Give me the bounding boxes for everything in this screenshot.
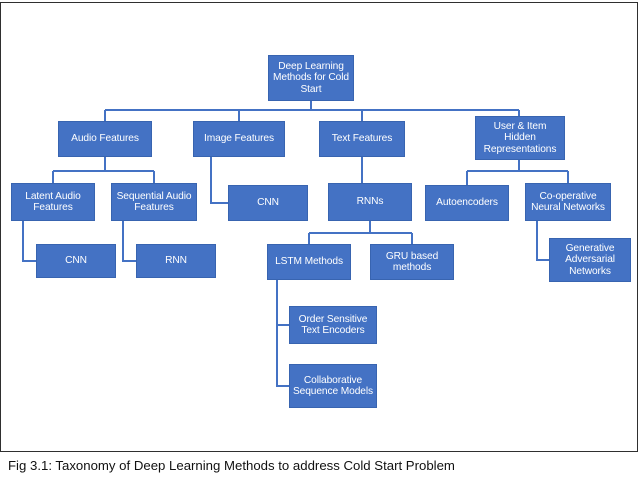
node-user-item-hidden-representations[interactable]: User & Item Hidden Representations xyxy=(475,116,565,160)
node-label: Co-operative Neural Networks xyxy=(528,191,608,214)
node-label: LSTM Methods xyxy=(270,256,348,267)
node-order-sensitive-text-encoders[interactable]: Order Sensitive Text Encoders xyxy=(289,306,377,344)
node-label: Text Features xyxy=(322,133,402,144)
node-label: CNN xyxy=(39,255,113,266)
node-label: Deep Learning Methods for Cold Start xyxy=(271,61,351,95)
node-autoencoders[interactable]: Autoencoders xyxy=(425,185,509,221)
node-gru-based-methods[interactable]: GRU based methods xyxy=(370,244,454,280)
node-audio-cnn[interactable]: CNN xyxy=(36,244,116,278)
node-label: Latent Audio Features xyxy=(14,191,92,214)
node-label: GRU based methods xyxy=(373,251,451,274)
node-label: Audio Features xyxy=(61,133,149,144)
figure-caption: Fig 3.1: Taxonomy of Deep Learning Metho… xyxy=(8,458,632,473)
node-text-features[interactable]: Text Features xyxy=(319,121,405,157)
node-label: Sequential Audio Features xyxy=(114,191,194,214)
node-image-cnn[interactable]: CNN xyxy=(228,185,308,221)
node-audio-features[interactable]: Audio Features xyxy=(58,121,152,157)
edge-latent-to-cnn xyxy=(23,221,36,261)
node-collaborative-sequence-models[interactable]: Collaborative Sequence Models xyxy=(289,364,377,408)
node-deep-learning-methods-for-cold-start[interactable]: Deep Learning Methods for Cold Start xyxy=(268,55,354,101)
edge-image-to-cnn xyxy=(211,157,228,203)
node-label: User & Item Hidden Representations xyxy=(478,121,562,155)
node-label: Order Sensitive Text Encoders xyxy=(292,314,374,337)
diagram-canvas: Deep Learning Methods for Cold Start Aud… xyxy=(1,3,639,453)
node-rnns[interactable]: RNNs xyxy=(328,183,412,221)
node-co-operative-neural-networks[interactable]: Co-operative Neural Networks xyxy=(525,183,611,221)
node-label: Generative Adversarial Networks xyxy=(552,243,628,277)
node-label: RNNs xyxy=(331,196,409,207)
node-label: RNN xyxy=(139,255,213,266)
node-generative-adversarial-networks[interactable]: Generative Adversarial Networks xyxy=(549,238,631,282)
diagram-frame: Deep Learning Methods for Cold Start Aud… xyxy=(0,2,638,452)
node-label: Collaborative Sequence Models xyxy=(292,375,374,398)
node-sequential-audio-features[interactable]: Sequential Audio Features xyxy=(111,183,197,221)
node-lstm-methods[interactable]: LSTM Methods xyxy=(267,244,351,280)
node-image-features[interactable]: Image Features xyxy=(193,121,285,157)
node-audio-rnn[interactable]: RNN xyxy=(136,244,216,278)
node-label: CNN xyxy=(231,197,305,208)
node-label: Autoencoders xyxy=(428,197,506,208)
node-latent-audio-features[interactable]: Latent Audio Features xyxy=(11,183,95,221)
edge-coopnn-to-gan xyxy=(537,221,549,260)
node-label: Image Features xyxy=(196,133,282,144)
edge-lstm-to-collabseq xyxy=(277,280,289,386)
edge-sequential-to-rnn xyxy=(123,221,136,261)
figure-root: Deep Learning Methods for Cold Start Aud… xyxy=(0,0,640,479)
